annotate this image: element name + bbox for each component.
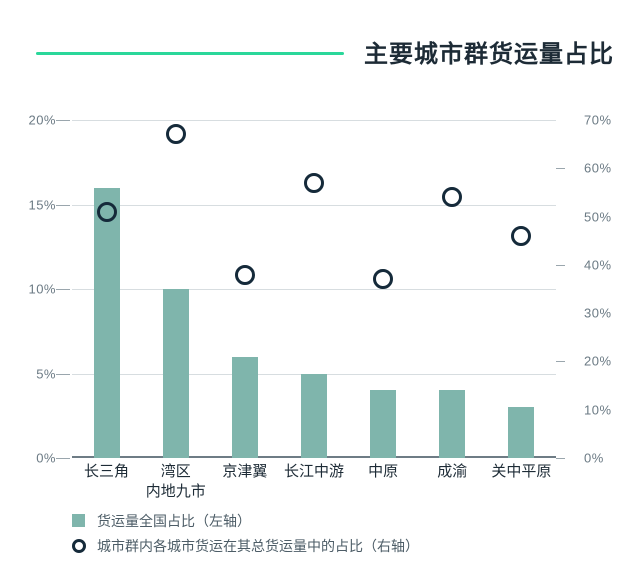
y2-axis-tick-label: 40% <box>584 257 628 272</box>
y2-axis-tick-label: 70% <box>584 113 628 128</box>
scatter-marker[interactable] <box>166 124 186 144</box>
x-axis-category-label: 长三角 <box>84 462 129 482</box>
legend-item-label: 货运量全国占比（左轴） <box>97 511 251 531</box>
y2-axis-tick-label: 0% <box>584 451 628 466</box>
hollow-circle-icon <box>72 539 86 553</box>
scatter-marker[interactable] <box>373 269 393 289</box>
page-title: 主要城市群货运量占比 <box>364 34 614 69</box>
scatter-marker[interactable] <box>442 187 462 207</box>
bar[interactable] <box>163 289 189 458</box>
y-axis-tick <box>56 458 70 459</box>
category-label-line: 湾区 <box>146 462 206 482</box>
y-axis-tick-label: 5% <box>22 366 56 381</box>
y2-axis-tick <box>556 458 565 459</box>
bar[interactable] <box>301 374 327 459</box>
gridline <box>72 205 556 206</box>
x-axis-category-label: 长江中游 <box>284 462 344 482</box>
bar[interactable] <box>508 407 534 458</box>
legend-item-scatter[interactable]: 城市群内各城市货运在其总货运量中的占比（右轴） <box>72 533 592 558</box>
y2-axis-tick-label: 10% <box>584 402 628 417</box>
y-axis-tick <box>56 205 70 206</box>
y2-axis-tick-label: 20% <box>584 354 628 369</box>
accent-line <box>36 52 344 55</box>
y2-axis-tick-label: 30% <box>584 306 628 321</box>
y2-axis-tick-label: 50% <box>584 209 628 224</box>
y-axis-tick-label: 10% <box>22 282 56 297</box>
x-axis-category-label: 关中平原 <box>491 462 551 482</box>
square-swatch-icon <box>72 514 85 527</box>
legend-item-bar[interactable]: 货运量全国占比（左轴） <box>72 508 592 533</box>
y-axis-tick <box>56 374 70 375</box>
y-axis-tick <box>56 289 70 290</box>
category-label-line: 京津翼 <box>222 462 267 482</box>
y2-axis-tick-label: 60% <box>584 161 628 176</box>
x-axis-category-label: 京津翼 <box>222 462 267 482</box>
bar[interactable] <box>439 390 465 458</box>
category-label-line: 长江中游 <box>284 462 344 482</box>
scatter-marker[interactable] <box>235 265 255 285</box>
gridline <box>72 120 556 121</box>
bar[interactable] <box>94 188 120 458</box>
x-axis-category-label: 湾区内地九市 <box>146 462 206 502</box>
y2-axis-tick <box>556 361 565 362</box>
y-axis-tick <box>56 120 70 121</box>
gridline <box>72 458 556 459</box>
y-axis-tick-label: 15% <box>22 197 56 212</box>
gridline <box>72 289 556 290</box>
plot-area <box>72 120 556 458</box>
scatter-marker[interactable] <box>304 173 324 193</box>
scatter-marker[interactable] <box>97 202 117 222</box>
scatter-marker[interactable] <box>511 226 531 246</box>
category-label-line: 成渝 <box>437 462 467 482</box>
y2-axis-tick <box>556 168 565 169</box>
chart-header: 主要城市群货运量占比 <box>0 0 640 92</box>
bar[interactable] <box>232 357 258 458</box>
y2-axis-tick <box>556 265 565 266</box>
bar[interactable] <box>370 390 396 458</box>
category-label-line: 关中平原 <box>491 462 551 482</box>
x-axis-categories: 长三角湾区内地九市京津翼长江中游中原成渝关中平原 <box>72 462 556 512</box>
category-label-line: 中原 <box>368 462 398 482</box>
chart-legend: 货运量全国占比（左轴） 城市群内各城市货运在其总货运量中的占比（右轴） <box>72 508 592 558</box>
x-axis-category-label: 中原 <box>368 462 398 482</box>
category-label-line: 内地九市 <box>146 482 206 502</box>
y-axis-tick-label: 20% <box>22 113 56 128</box>
legend-item-label: 城市群内各城市货运在其总货运量中的占比（右轴） <box>97 536 419 556</box>
y-axis-tick-label: 0% <box>22 451 56 466</box>
category-label-line: 长三角 <box>84 462 129 482</box>
x-axis-category-label: 成渝 <box>437 462 467 482</box>
